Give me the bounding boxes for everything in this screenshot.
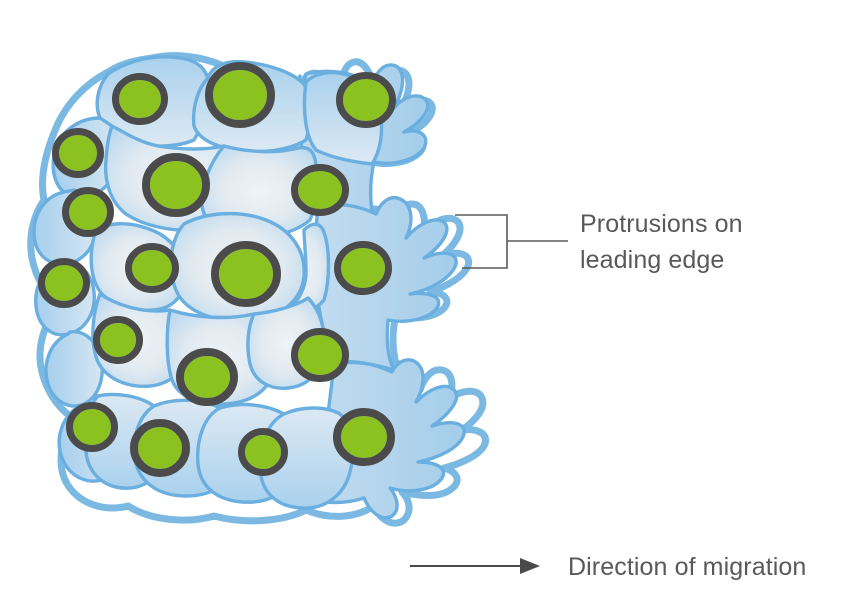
- nucleus: [242, 432, 285, 473]
- migration-label: Direction of migration: [568, 553, 806, 581]
- nucleus-core: [119, 80, 161, 118]
- nucleus: [209, 66, 271, 124]
- nucleus-core: [184, 356, 230, 398]
- nucleus-core: [45, 265, 83, 301]
- nucleus: [295, 332, 346, 379]
- nucleus: [180, 352, 234, 402]
- nucleus: [129, 247, 176, 290]
- nucleus: [146, 157, 206, 213]
- nucleus: [56, 132, 101, 175]
- nucleus-core: [298, 335, 342, 375]
- nucleus-core: [138, 427, 182, 469]
- nucleus: [337, 412, 391, 462]
- nucleus: [66, 191, 111, 234]
- nucleus-core: [73, 409, 111, 445]
- nucleus-core: [213, 70, 267, 120]
- cell-row-bottom: [86, 394, 353, 508]
- nucleus: [215, 245, 277, 303]
- nucleus-core: [343, 79, 389, 121]
- nucleus: [338, 245, 389, 292]
- nucleus-core: [69, 194, 107, 230]
- bracket-line: [455, 215, 507, 268]
- protrusion-label-line2: leading edge: [580, 246, 724, 274]
- cell-sheet-illustration: Protrusions on leading edge Direction of…: [0, 0, 843, 600]
- nucleus-core: [132, 250, 172, 286]
- migration-arrow: [410, 558, 540, 574]
- nucleus-core: [100, 323, 136, 357]
- diagram-root: Protrusions on leading edge Direction of…: [0, 0, 843, 600]
- nucleus-core: [341, 248, 385, 288]
- arrow-head-icon: [520, 558, 540, 574]
- nucleus: [42, 262, 87, 305]
- nucleus: [134, 423, 186, 473]
- nucleus: [116, 77, 165, 122]
- nucleus: [295, 168, 346, 213]
- nucleus-core: [59, 135, 97, 171]
- nucleus-core: [150, 161, 202, 209]
- nucleus: [97, 320, 140, 361]
- nucleus-core: [341, 416, 387, 458]
- nucleus-core: [245, 435, 281, 469]
- nucleus: [70, 406, 115, 449]
- nucleus-core: [219, 249, 273, 299]
- nucleus-core: [298, 171, 342, 209]
- protrusion-label-line1: Protrusions on: [580, 210, 743, 238]
- nucleus: [340, 76, 393, 125]
